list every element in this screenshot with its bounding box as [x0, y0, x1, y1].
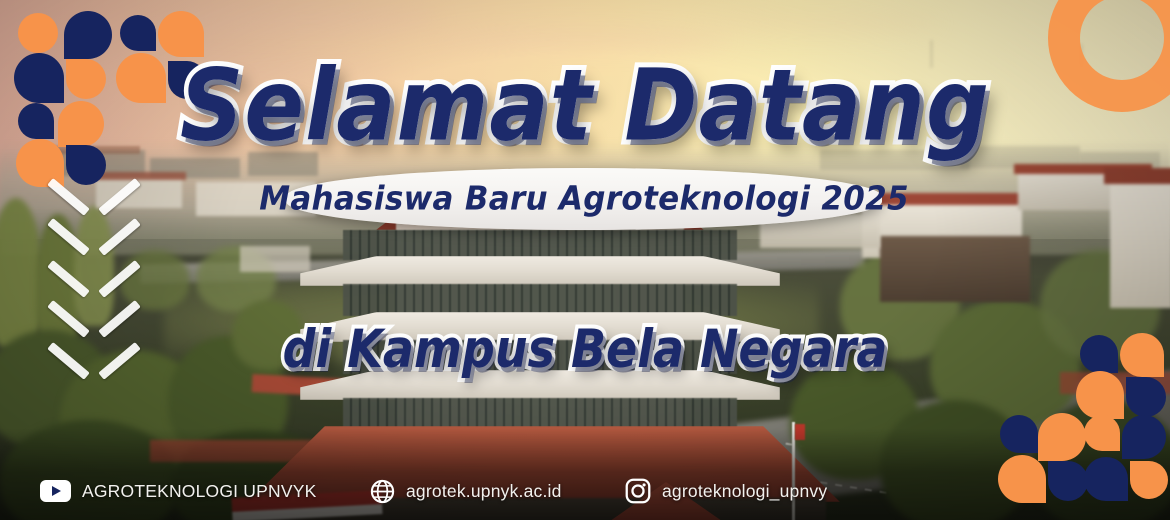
petal-grid-logo-top-left [8, 5, 188, 170]
social-item-youtube[interactable]: AGROTEKNOLOGI UPNVYK [40, 480, 370, 502]
youtube-handle: AGROTEKNOLOGI UPNVYK [82, 481, 316, 502]
youtube-icon [40, 480, 71, 502]
subtitle-text: Mahasiswa Baru Agroteknologi 2025 [259, 180, 909, 218]
social-item-website[interactable]: agrotek.upnyk.ac.id [370, 479, 625, 504]
globe-icon [370, 479, 395, 504]
poster-canvas: Selamat Datang Mahasiswa Baru Agroteknol… [0, 0, 1170, 520]
instagram-icon [625, 478, 651, 504]
social-footer-bar: AGROTEKNOLOGI UPNVYK agrotek.upnyk.ac.id… [0, 462, 1170, 520]
website-url: agrotek.upnyk.ac.id [406, 481, 562, 502]
chevron-arrows-up-icon [55, 178, 147, 390]
social-item-instagram[interactable]: agroteknologi_upnvy [625, 478, 827, 504]
subtitle-pill: Mahasiswa Baru Agroteknologi 2025 [286, 168, 882, 230]
instagram-handle: agroteknologi_upnvy [662, 481, 827, 502]
